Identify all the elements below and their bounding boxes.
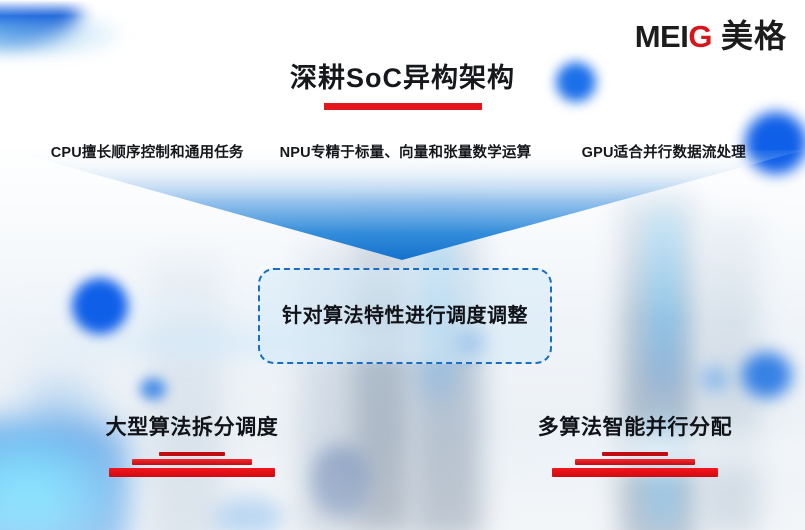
- logo-chinese-name: 美格: [721, 20, 787, 52]
- caption-cpu: CPU擅长顺序控制和通用任务: [0, 142, 276, 164]
- outcome-split-scheduling-bars: [52, 452, 332, 477]
- slide-canvas: MEIG 美格 深耕SoC异构架构 CPU擅长顺序控制和通用任务 NPU专精于标…: [0, 0, 805, 530]
- red-bar-top: [159, 452, 225, 456]
- blue-dot-left: [72, 278, 128, 334]
- scheduling-callout-text: 针对算法特性进行调度调整: [262, 302, 548, 331]
- red-bar-middle: [575, 459, 695, 465]
- blue-dot-right-small: [700, 366, 730, 392]
- outcome-split-scheduling-label: 大型算法拆分调度: [52, 415, 332, 440]
- page-title: 深耕SoC异构架构: [0, 64, 805, 94]
- red-bar-bottom: [109, 468, 275, 477]
- scheduling-callout-box: 针对算法特性进行调度调整: [258, 268, 552, 364]
- logo-wordmark-prefix: MEI: [635, 19, 689, 54]
- brand-logo: MEIG 美格: [635, 20, 787, 52]
- outcome-parallel-allocation-bars: [495, 452, 775, 477]
- outcome-parallel-allocation-label: 多算法智能并行分配: [495, 415, 775, 440]
- title-block: 深耕SoC异构架构: [0, 64, 805, 110]
- logo-wordmark-accent: G: [688, 19, 712, 54]
- outcome-parallel-allocation: 多算法智能并行分配: [495, 415, 775, 477]
- outcome-split-scheduling: 大型算法拆分调度: [52, 415, 332, 477]
- caption-npu: NPU专精于标量、向量和张量数学运算: [276, 142, 534, 164]
- red-bar-top: [602, 452, 668, 456]
- top-edge-fade: [0, 0, 805, 16]
- blue-dot-left-small: [140, 378, 166, 400]
- caption-gpu: GPU适合并行数据流处理: [535, 142, 805, 164]
- funnel-graphic: [0, 150, 805, 262]
- blue-dot-right: [742, 352, 792, 398]
- logo-wordmark: MEIG: [635, 21, 712, 52]
- title-underline: [324, 103, 482, 110]
- red-bar-bottom: [552, 468, 718, 477]
- red-bar-middle: [132, 459, 252, 465]
- blue-streak-top-left: [0, 18, 120, 52]
- caption-row: CPU擅长顺序控制和通用任务 NPU专精于标量、向量和张量数学运算 GPU适合并…: [0, 142, 805, 164]
